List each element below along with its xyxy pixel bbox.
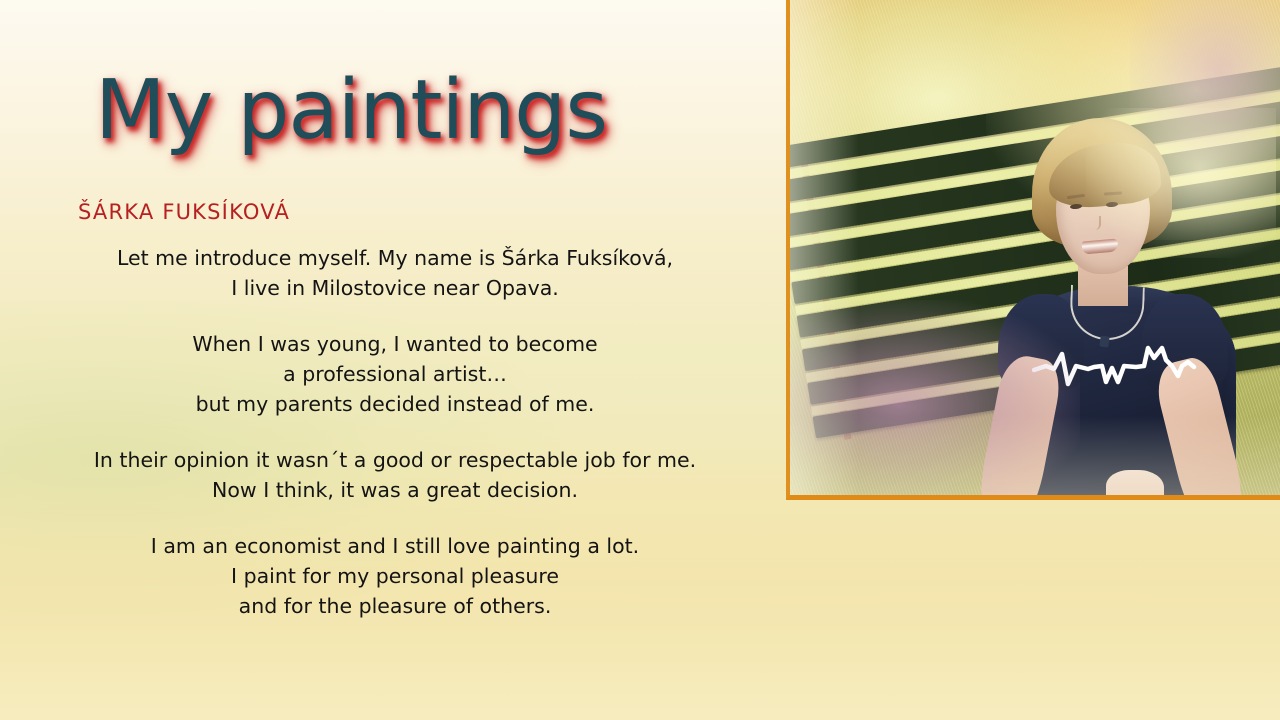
hands (1106, 470, 1164, 495)
text-line: and for the pleasure of others. (30, 591, 760, 621)
woman-figure (986, 118, 1256, 495)
text-line: In their opinion it wasn´t a good or res… (30, 445, 760, 475)
body-text-block: Let me introduce myself. My name is Šárk… (30, 243, 760, 621)
text-line: but my parents decided instead of me. (30, 389, 760, 419)
text-line: a professional artist… (30, 359, 760, 389)
text-line: Now I think, it was a great decision. (30, 475, 760, 505)
cat-heartbeat-icon (1032, 336, 1202, 400)
necklace-pendant (1099, 335, 1109, 347)
text-line: I am an economist and I still love paint… (30, 531, 760, 561)
page-title: My paintings (95, 70, 607, 152)
author-subtitle: ŠÁRKA FUKSÍKOVÁ (78, 200, 290, 224)
paragraph-1: Let me introduce myself. My name is Šárk… (30, 243, 760, 303)
text-line: When I was young, I wanted to become (30, 329, 760, 359)
photo-frame (786, 0, 1280, 500)
paragraph-3: In their opinion it wasn´t a good or res… (30, 445, 760, 505)
text-line: I paint for my personal pleasure (30, 561, 760, 591)
paragraph-4: I am an economist and I still love paint… (30, 531, 760, 621)
text-line: I live in Milostovice near Opava. (30, 273, 760, 303)
paragraph-2: When I was young, I wanted to become a p… (30, 329, 760, 419)
slide-canvas: My paintings ŠÁRKA FUKSÍKOVÁ Let me intr… (0, 0, 1280, 720)
portrait-photo (790, 0, 1280, 495)
nose (1090, 216, 1101, 230)
text-line: Let me introduce myself. My name is Šárk… (30, 243, 760, 273)
